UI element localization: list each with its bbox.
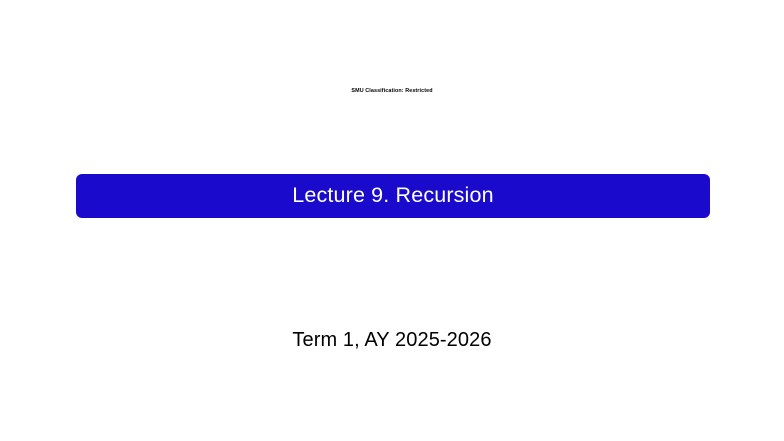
slide-title-banner: Lecture 9. Recursion: [76, 174, 710, 218]
slide-subtitle: Term 1, AY 2025-2026: [292, 330, 491, 350]
classification-label: SMU Classification: Restricted: [351, 89, 432, 94]
slide-subtitle-row: Term 1, AY 2025-2026: [0, 330, 784, 350]
classification-banner: SMU Classification: Restricted: [0, 80, 784, 96]
slide-title: Lecture 9. Recursion: [292, 185, 493, 207]
presentation-slide: SMU Classification: Restricted Lecture 9…: [0, 0, 784, 441]
